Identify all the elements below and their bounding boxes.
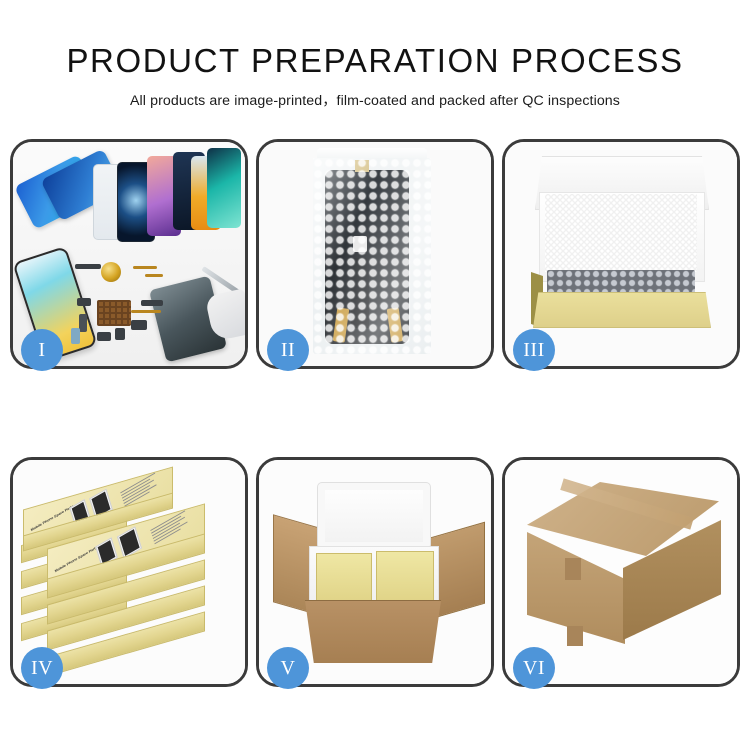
box-front-wall [533, 292, 711, 328]
step-panel-1: I [10, 139, 248, 369]
foam-lid [317, 482, 431, 550]
header: PRODUCT PREPARATION PROCESS All products… [0, 0, 750, 110]
carton-tape-lower [567, 626, 583, 646]
page-subtitle: All products are image-printed，film-coat… [0, 79, 750, 110]
process-grid: I [10, 139, 740, 694]
infographic-page: PRODUCT PREPARATION PROCESS All products… [0, 0, 750, 750]
step-badge-4: IV [21, 647, 63, 689]
step-panel-4: Mobile Phone Spare Parts Mobile Phone Sp… [10, 457, 248, 687]
gold-coil-part [101, 262, 121, 282]
step-badge-6: VI [513, 647, 555, 689]
part-flex-cable-1 [133, 266, 157, 269]
step-panel-5: V [256, 457, 494, 687]
step-badge-3: III [513, 329, 555, 371]
part-camera [97, 332, 111, 341]
yellow-boxes-right [376, 551, 434, 607]
part-module [131, 320, 147, 330]
part-speaker [75, 264, 101, 269]
part-sim-tray [71, 328, 80, 344]
carton-body [299, 600, 447, 663]
step-badge-5: V [267, 647, 309, 689]
part-flex-cable-2 [145, 274, 163, 277]
step-badge-2: II [267, 329, 309, 371]
carton-tape-upper [565, 558, 581, 580]
part-flex-cable-3 [131, 310, 161, 313]
step-panel-3: III [502, 139, 740, 369]
bag-sheen [313, 158, 431, 354]
part-connector-a [77, 298, 91, 306]
foam-sheet [545, 194, 697, 272]
bubble-wrap-bag [313, 158, 431, 354]
yellow-boxes-left [316, 553, 372, 607]
part-button [115, 328, 125, 340]
part-bracket [79, 314, 87, 332]
step-panel-2: II [256, 139, 494, 369]
step-panel-6: VI [502, 457, 740, 687]
page-title: PRODUCT PREPARATION PROCESS [0, 0, 750, 79]
chip-grid-part [97, 300, 131, 326]
part-flex-strip [141, 300, 163, 306]
step-badge-1: I [21, 329, 63, 371]
phone-green [207, 148, 241, 228]
